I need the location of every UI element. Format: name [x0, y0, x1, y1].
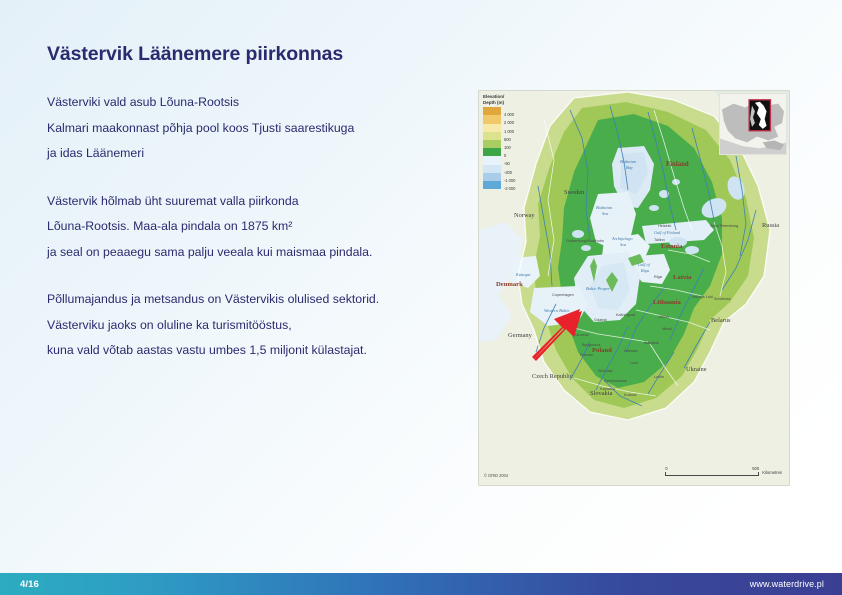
legend-entry: 4 000 [483, 107, 537, 115]
body-line: ja idas Läänemeri [47, 141, 457, 167]
svg-text:Belarus: Belarus [711, 317, 731, 324]
scalebar-line [665, 475, 759, 476]
svg-text:Bothnian: Bothnian [620, 159, 637, 164]
legend-entry: -50 [483, 156, 537, 164]
svg-text:Lublin: Lublin [654, 375, 664, 379]
body-line: kuna vald võtab aastas vastu umbes 1,5 m… [47, 338, 457, 364]
svg-text:Lithuania: Lithuania [653, 299, 682, 306]
legend-title-line-2: Depth (m) [483, 100, 539, 106]
legend-swatch [483, 148, 501, 156]
legend-swatch [483, 115, 501, 123]
svg-text:Gothenburg: Gothenburg [566, 239, 586, 243]
scalebar-start-value: 0 [665, 467, 667, 471]
body-line: Lõuna-Rootsis. Maa-ala pindala on 1875 k… [47, 214, 457, 240]
svg-text:Warsaw: Warsaw [624, 349, 638, 353]
svg-text:Krakow: Krakow [624, 393, 637, 397]
europe-locator-inset [719, 93, 787, 155]
body-line: Västerviki vald asub Lõuna-Rootsis [47, 90, 457, 116]
svg-text:Wroclaw: Wroclaw [598, 369, 613, 373]
slide-number: 4/16 [20, 579, 39, 590]
footer-bar: 4/16 www.waterdrive.pl [0, 573, 842, 595]
svg-text:Archipelago: Archipelago [611, 236, 633, 241]
svg-text:Helsinki: Helsinki [658, 224, 671, 228]
svg-text:Smolensk: Smolensk [714, 297, 731, 301]
legend-label: 4 000 [504, 113, 514, 117]
legend-swatch [483, 165, 501, 173]
svg-text:Bay: Bay [626, 165, 633, 170]
svg-text:Latvia: Latvia [673, 274, 692, 281]
legend-label: 1 000 [504, 130, 514, 134]
svg-text:Czech Republic: Czech Republic [532, 373, 573, 380]
svg-text:Copenhagen: Copenhagen [552, 293, 574, 297]
svg-text:Bydgoszcz: Bydgoszcz [582, 343, 600, 347]
svg-text:Estonia: Estonia [661, 243, 683, 250]
legend-label: 0 [504, 154, 506, 158]
slide: Västervik Läänemere piirkonnas Västervik… [0, 0, 842, 595]
body-line: ja seal on peaaegu sama palju veeala kui… [47, 240, 457, 266]
legend-swatch [483, 156, 501, 164]
body-line: Västerviku jaoks on oluline ka turismitö… [47, 313, 457, 339]
legend-title: Elevation/ Depth (m) [483, 94, 539, 105]
paragraph-1: Västerviki vald asub Lõuna-Rootsis Kalma… [47, 90, 457, 167]
svg-text:Bothnian: Bothnian [596, 205, 613, 210]
svg-text:Lodz: Lodz [630, 361, 638, 365]
svg-text:Sea: Sea [602, 211, 609, 216]
svg-text:Velikiye Luki: Velikiye Luki [692, 295, 713, 299]
scalebar-unit: Kilometres [762, 471, 782, 476]
legend-swatch [483, 107, 501, 115]
footer-website-url[interactable]: www.waterdrive.pl [750, 579, 824, 589]
svg-text:Denmark: Denmark [496, 281, 523, 288]
svg-text:Vilnius: Vilnius [658, 315, 669, 319]
legend-swatch [483, 124, 501, 132]
svg-text:Tallinn: Tallinn [654, 238, 665, 242]
legend-label: 100 [504, 146, 511, 150]
svg-text:Gulf of: Gulf of [638, 262, 651, 267]
scalebar-graphic: 0 500 [665, 465, 759, 476]
body-line: Põllumajandus ja metsandus on Västerviki… [47, 287, 457, 313]
svg-text:Kattegat: Kattegat [515, 272, 531, 277]
legend-label: -200 [504, 171, 512, 175]
map-credit: © GRID 2004 [484, 473, 508, 478]
svg-text:Western Baltic: Western Baltic [544, 308, 570, 313]
map-legend: Elevation/ Depth (m) 4 000 2 000 1 000 [483, 94, 539, 189]
legend-swatch [483, 140, 501, 148]
paragraph-2: Västervik hõlmab üht suuremat valla piir… [47, 189, 457, 266]
svg-text:Germany: Germany [508, 332, 533, 339]
legend-label: -2 000 [504, 187, 515, 191]
inset-graphic [720, 94, 786, 154]
svg-text:Poznan: Poznan [580, 353, 593, 357]
svg-text:Katowice: Katowice [600, 387, 615, 391]
svg-text:Baltic Proper: Baltic Proper [586, 286, 610, 291]
legend-label: -50 [504, 162, 510, 166]
svg-text:Riga: Riga [654, 275, 663, 279]
svg-text:Sweden: Sweden [564, 189, 585, 196]
svg-text:Norway: Norway [514, 212, 535, 219]
svg-text:Finland: Finland [666, 161, 689, 168]
svg-text:Szczecin: Szczecin [574, 333, 589, 337]
svg-text:Bialystok: Bialystok [644, 341, 659, 345]
svg-text:Saint Petersburg: Saint Petersburg [710, 224, 738, 228]
legend-swatch [483, 181, 501, 189]
svg-text:Gulf of Finland: Gulf of Finland [654, 230, 681, 235]
svg-text:Gdansk: Gdansk [594, 318, 607, 322]
svg-text:Ukraine: Ukraine [686, 366, 707, 373]
svg-text:Poland: Poland [592, 347, 612, 354]
scalebar-end-value: 500 [752, 467, 759, 471]
legend-label: 2 000 [504, 121, 514, 125]
svg-text:Russia: Russia [762, 222, 779, 229]
legend-swatch [483, 173, 501, 181]
map-scalebar: 0 500 Kilometres [665, 465, 782, 476]
body-line: Västervik hõlmab üht suuremat valla piir… [47, 189, 457, 215]
legend-entry: -200 [483, 165, 537, 173]
svg-text:Stockholm: Stockholm [586, 239, 604, 243]
baltic-sea-map-image: Norway Sweden Finland Russia Estonia Lat… [478, 90, 790, 486]
legend-swatch [483, 132, 501, 140]
body-line: Kalmari maakonnast põhja pool koos Tjust… [47, 116, 457, 142]
page-title: Västervik Läänemere piirkonnas [47, 43, 343, 66]
body-copy: Västerviki vald asub Lõuna-Rootsis Kalma… [47, 90, 457, 364]
svg-text:Slovakia: Slovakia [590, 390, 613, 397]
svg-text:Sea: Sea [620, 242, 626, 247]
svg-text:Czestochowa: Czestochowa [604, 379, 628, 383]
legend-label: -1 000 [504, 179, 515, 183]
svg-text:Riga: Riga [640, 268, 649, 273]
legend-scale: 4 000 2 000 1 000 500 100 [483, 107, 537, 189]
paragraph-3: Põllumajandus ja metsandus on Västerviki… [47, 287, 457, 364]
svg-text:Minsk: Minsk [662, 327, 672, 331]
svg-text:Kaliningrad: Kaliningrad [616, 313, 635, 317]
legend-label: 500 [504, 138, 511, 142]
